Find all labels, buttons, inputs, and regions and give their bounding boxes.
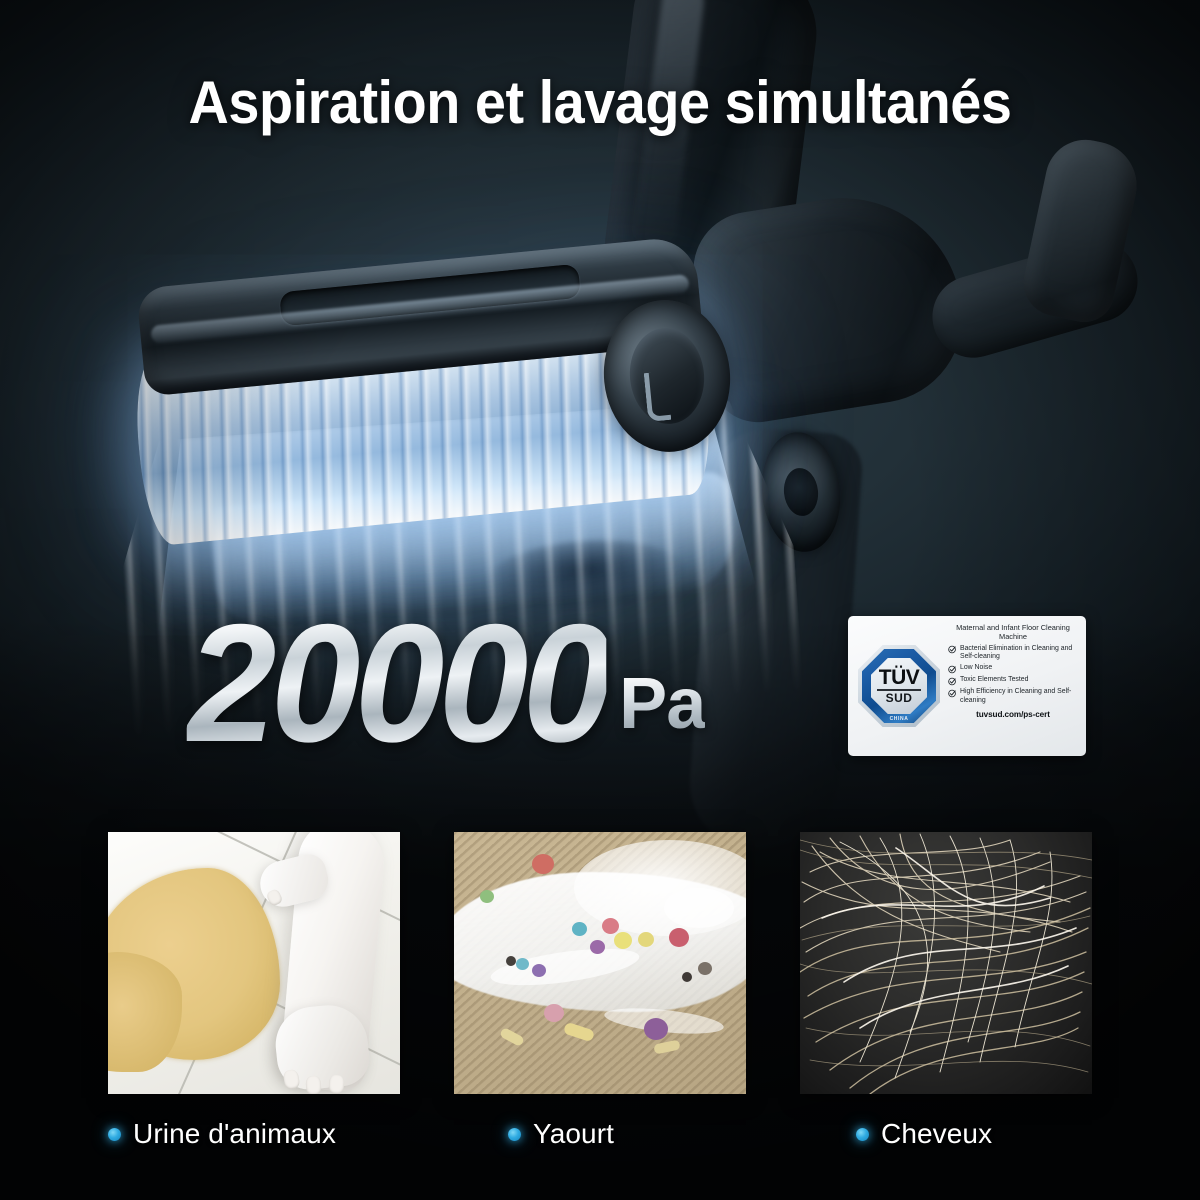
hair-tangle-photo — [800, 832, 1092, 1094]
pet-urine-photo — [108, 832, 400, 1094]
product-feature-banner: Aspiration et lavage simultanés 20000 Pa… — [0, 0, 1200, 1200]
tuv-check-label: Toxic Elements Tested — [960, 676, 1028, 685]
bullet-dot-icon — [508, 1128, 521, 1141]
hair-strands — [800, 832, 1092, 1094]
tuv-certificate-url: tuvsud.com/ps-cert — [948, 710, 1078, 719]
tuv-check-label: Low Noise — [960, 664, 992, 673]
caption-label: Yaourt — [533, 1118, 614, 1150]
tuv-logo-icon: TÜV SUD CHINA — [858, 645, 940, 727]
caption-yogurt: Yaourt — [508, 1118, 856, 1150]
caption-hair: Cheveux — [856, 1118, 1092, 1150]
check-circle-icon — [948, 645, 957, 654]
tuv-details-column: Maternal and Infant Floor Cleaning Machi… — [943, 623, 1078, 749]
caption-pet-urine: Urine d'animaux — [108, 1118, 508, 1150]
tuv-logo-column: TÜV SUD CHINA — [855, 623, 943, 749]
page-title: Aspiration et lavage simultanés — [42, 68, 1158, 137]
check-circle-icon — [948, 665, 957, 674]
mess-thumbnail-yogurt — [454, 832, 746, 1094]
suction-power-value: 20000 — [187, 608, 607, 759]
mess-thumbnail-row — [108, 832, 1092, 1094]
suction-power-unit: Pa — [619, 672, 705, 737]
bullet-dot-icon — [856, 1128, 869, 1141]
caption-label: Urine d'animaux — [133, 1118, 336, 1150]
tuv-region-label: CHINA — [858, 716, 940, 722]
tuv-check-item: Bacterial Elimination in Cleaning and Se… — [948, 645, 1078, 662]
tuv-check-item: Toxic Elements Tested — [948, 676, 1078, 686]
tuv-check-label: High Efficiency in Cleaning and Self-cle… — [960, 688, 1078, 705]
caption-label: Cheveux — [881, 1118, 992, 1150]
mess-thumbnail-pet-urine — [108, 832, 400, 1094]
tuv-certification-badge: TÜV SUD CHINA Maternal and Infant Floor … — [848, 616, 1086, 756]
check-circle-icon — [948, 677, 957, 686]
bullet-dot-icon — [108, 1128, 121, 1141]
mess-thumbnail-hair — [800, 832, 1092, 1094]
suction-power-spec: 20000 Pa — [178, 608, 705, 759]
tuv-check-item: Low Noise — [948, 664, 1078, 674]
mess-caption-row: Urine d'animaux Yaourt Cheveux — [108, 1118, 1092, 1150]
tuv-wordmark: TÜV — [879, 667, 920, 688]
tuv-check-label: Bacterial Elimination in Cleaning and Se… — [960, 645, 1078, 662]
tuv-check-item: High Efficiency in Cleaning and Self-cle… — [948, 688, 1078, 705]
tuv-octagon-face: TÜV SUD — [871, 658, 927, 714]
tuv-heading: Maternal and Infant Floor Cleaning Machi… — [948, 623, 1078, 642]
tuv-sud-label: SUD — [886, 692, 913, 704]
yogurt-spill-photo — [454, 832, 746, 1094]
check-circle-icon — [948, 689, 957, 698]
